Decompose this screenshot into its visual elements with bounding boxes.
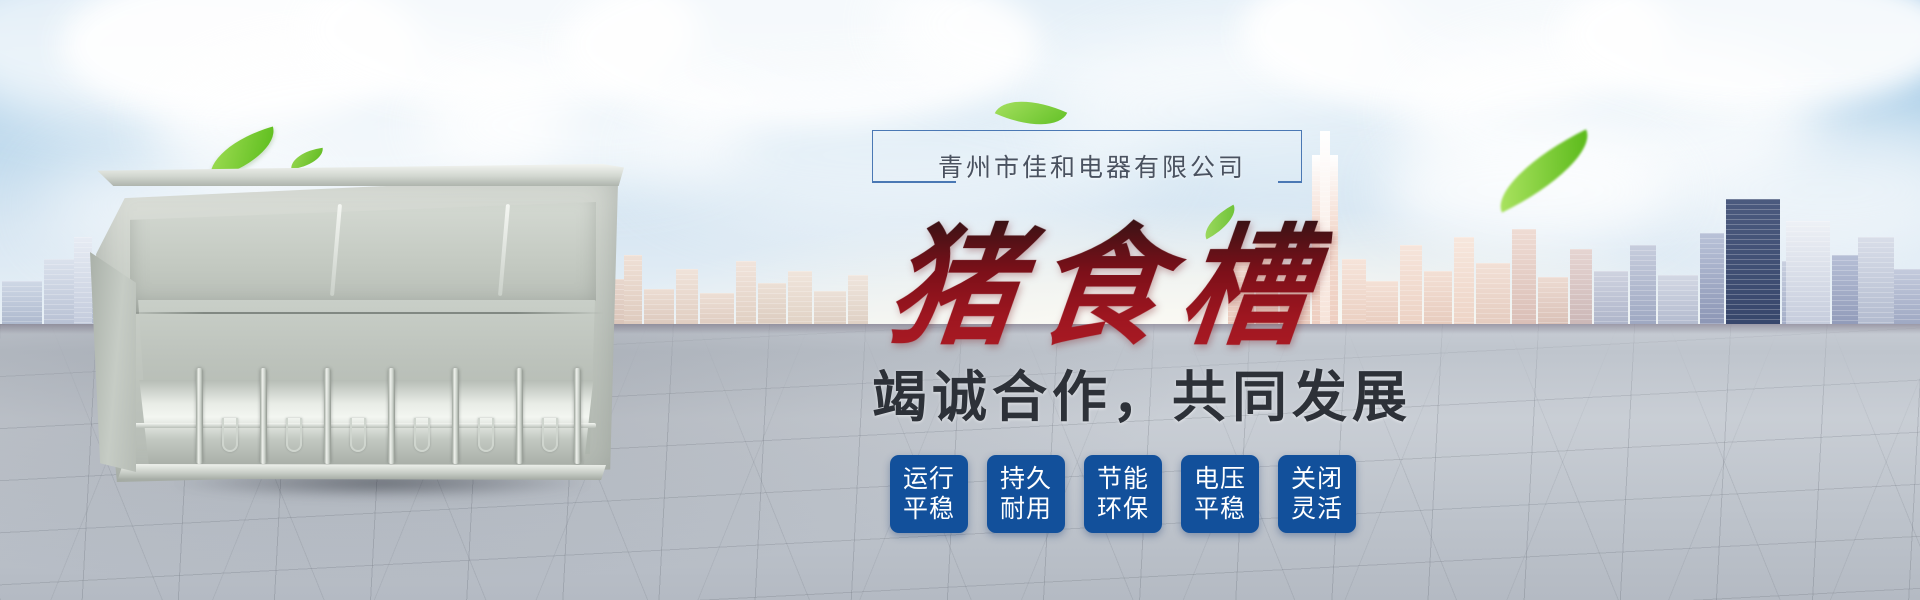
- feature-badge-5-line2: 灵活: [1291, 494, 1343, 525]
- feature-badge-1-line1: 运行: [903, 464, 955, 495]
- feature-badge-3[interactable]: 节能 环保: [1084, 455, 1162, 533]
- feature-badge-2-line2: 耐用: [1000, 494, 1052, 525]
- page-title: 猪食槽: [880, 182, 1338, 370]
- company-name: 青州市佳和电器有限公司: [938, 148, 1246, 184]
- feature-badge-2[interactable]: 持久 耐用: [987, 455, 1065, 533]
- feature-badge-4-line1: 电压: [1194, 464, 1246, 495]
- banner-subtitle: 竭诚合作，共同发展: [872, 352, 1412, 432]
- feature-badge-1-line2: 平稳: [903, 494, 955, 525]
- feature-badge-1[interactable]: 运行 平稳: [890, 455, 968, 533]
- feature-badge-2-line1: 持久: [1000, 464, 1052, 495]
- feature-badge-4[interactable]: 电压 平稳: [1181, 455, 1259, 533]
- feature-badge-4-line2: 平稳: [1194, 494, 1246, 525]
- feature-badge-3-line1: 节能: [1097, 464, 1149, 495]
- feature-badge-5[interactable]: 关闭 灵活: [1278, 455, 1356, 533]
- banner-content: 青州市佳和电器有限公司 猪食槽 竭诚合作，共同发展 运行 平稳 持久 耐用 节能…: [0, 0, 1920, 600]
- promo-banner: 青州市佳和电器有限公司 猪食槽 竭诚合作，共同发展 运行 平稳 持久 耐用 节能…: [0, 0, 1920, 600]
- feature-badge-5-line1: 关闭: [1291, 464, 1343, 495]
- feature-badge-3-line2: 环保: [1097, 494, 1149, 525]
- feature-badge-list: 运行 平稳 持久 耐用 节能 环保 电压 平稳 关闭 灵活: [890, 455, 1356, 533]
